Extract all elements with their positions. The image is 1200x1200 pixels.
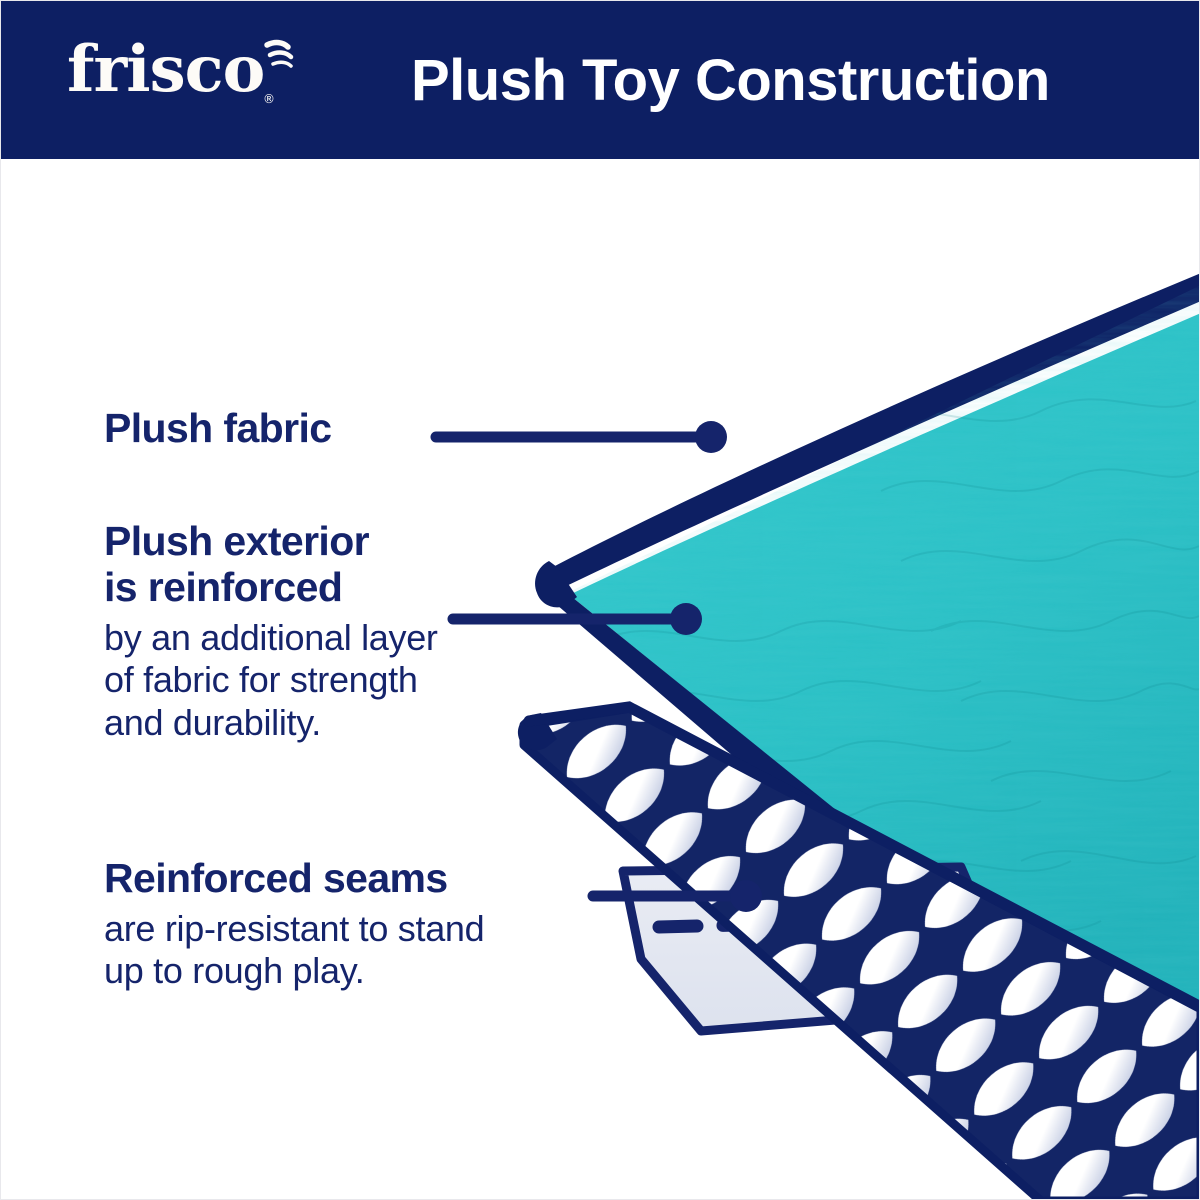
callout-plush-exterior-body: by an additional layer of fabric for str… — [104, 617, 438, 744]
leader-dot-reinforced-seams — [730, 880, 762, 912]
callout-plush-exterior-heading: Plush exterior is reinforced — [104, 519, 438, 611]
header-bar: frisco ® Plush Toy Construction — [1, 1, 1200, 159]
logo-swoosh-stroke-2 — [270, 53, 291, 57]
logo-swoosh-stroke-3 — [273, 62, 291, 66]
infographic-root: frisco ® Plush Toy Construction — [0, 0, 1200, 1200]
frisco-logo-wordmark: frisco — [67, 32, 264, 107]
leader-dot-plush-exterior — [670, 603, 702, 635]
callout-plush-exterior: Plush exterior is reinforced by an addit… — [104, 519, 438, 744]
registered-trademark-icon: ® — [263, 92, 275, 106]
logo-swoosh-stroke-1 — [267, 43, 288, 47]
leader-dot-plush-fabric — [695, 421, 727, 453]
leader-line-plush-fabric — [436, 421, 727, 453]
callout-plush-fabric: Plush fabric — [104, 406, 331, 452]
frisco-logo: frisco ® — [67, 31, 317, 111]
callout-reinforced-seams-heading: Reinforced seams — [104, 856, 484, 902]
page-title: Plush Toy Construction — [411, 1, 1050, 159]
callout-plush-fabric-heading: Plush fabric — [104, 406, 331, 452]
callout-reinforced-seams-body: are rip-resistant to stand up to rough p… — [104, 908, 484, 993]
callout-reinforced-seams: Reinforced seams are rip-resistant to st… — [104, 856, 484, 993]
